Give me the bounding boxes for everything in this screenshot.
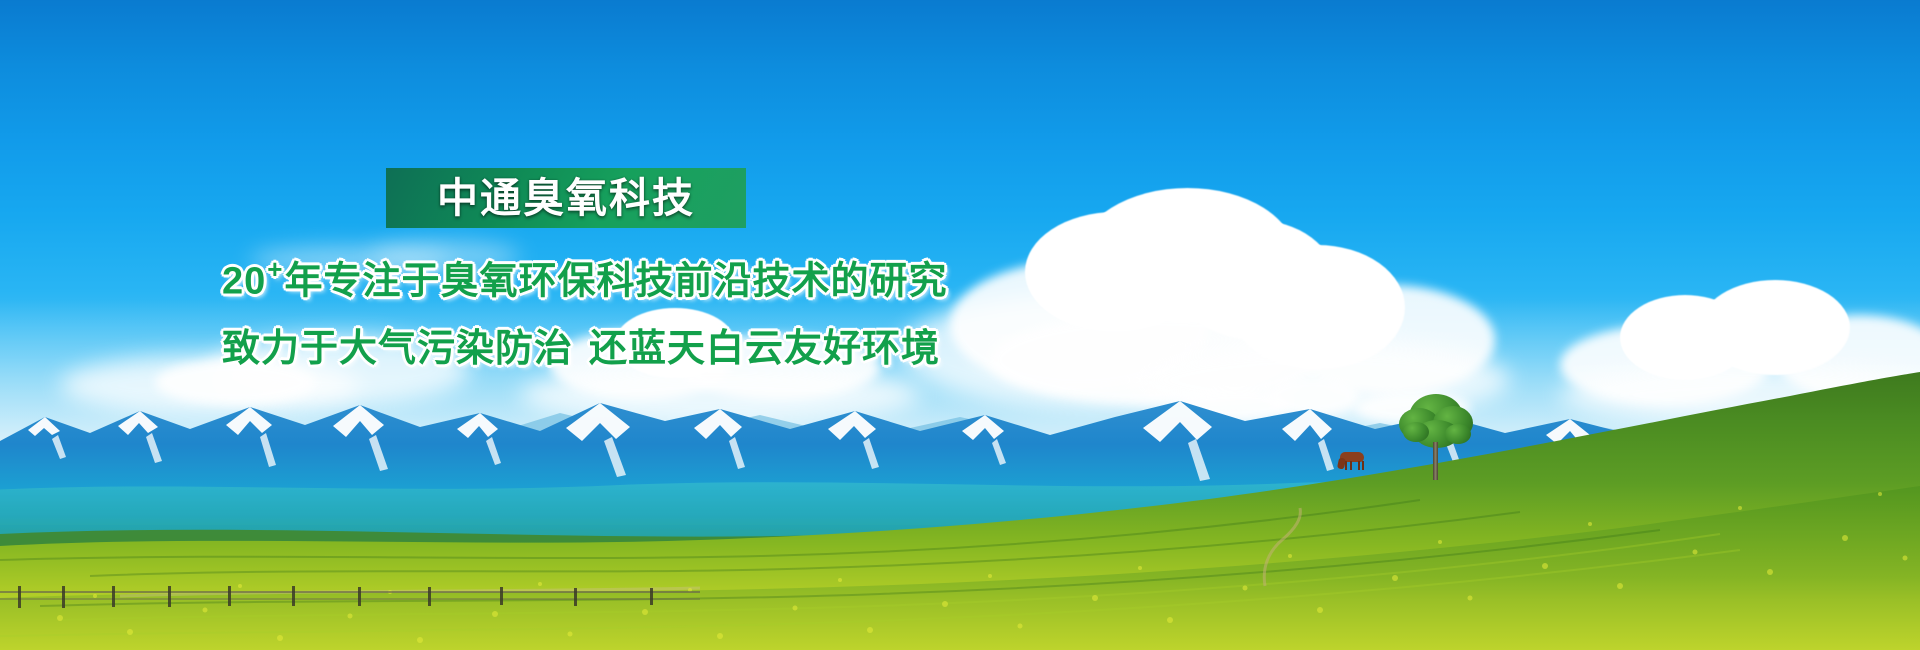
- grazing-horse: [1338, 452, 1368, 472]
- wooden-fence-line: [0, 586, 700, 612]
- lone-tree: [1395, 390, 1475, 480]
- tree-trunk: [1433, 442, 1438, 480]
- hero-banner: 中通臭氧科技 20+年专注于臭氧环保科技前沿技术的研究 致力于大气污染防治还蓝天…: [0, 0, 1920, 650]
- meadow-dandelion-speckles: [0, 0, 1920, 650]
